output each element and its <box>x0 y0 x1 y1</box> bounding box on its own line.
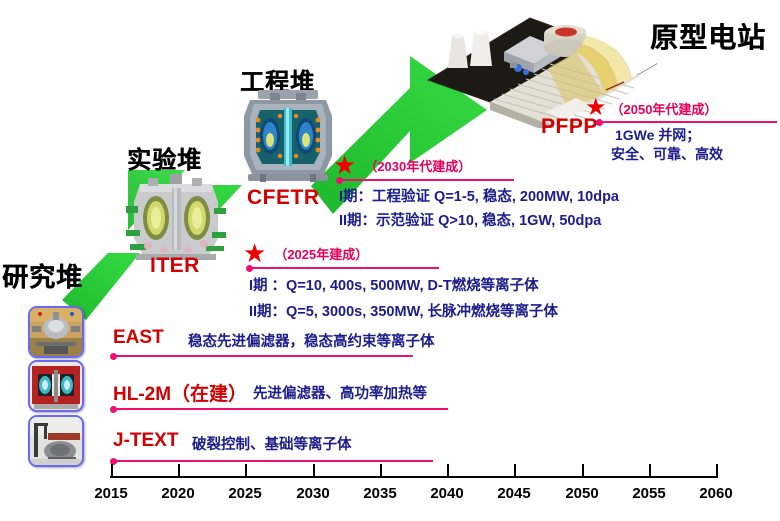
axis-tick-2045 <box>514 464 516 477</box>
axis-tick-label-2055: 2055 <box>619 485 679 502</box>
axis-tick-label-2025: 2025 <box>215 485 275 502</box>
axis-tick-label-2030: 2030 <box>283 485 343 502</box>
axis-tick-label-2035: 2035 <box>350 485 410 502</box>
axis-tick-label-2040: 2040 <box>417 485 477 502</box>
axis-tick-2015 <box>111 464 113 477</box>
axis-baseline <box>110 476 718 478</box>
axis-tick-2025 <box>245 464 247 477</box>
axis-tick-2020 <box>178 464 180 477</box>
axis-tick-label-2020: 2020 <box>148 485 208 502</box>
axis-tick-2060 <box>716 464 718 477</box>
roadmap-slide: 原型电站 研究堆 实验堆 工程堆 <box>0 0 780 521</box>
axis-tick-2040 <box>447 464 449 477</box>
axis-tick-label-2015: 2015 <box>81 485 141 502</box>
axis-tick-2055 <box>649 464 651 477</box>
axis-tick-2050 <box>582 464 584 477</box>
axis-tick-2030 <box>313 464 315 477</box>
axis-tick-label-2045: 2045 <box>484 485 544 502</box>
axis-tick-label-2050: 2050 <box>552 485 612 502</box>
axis-tick-2035 <box>380 464 382 477</box>
timeline-axis: 2015202020252030203520402045205020552060 <box>0 0 780 521</box>
axis-tick-label-2060: 2060 <box>686 485 746 502</box>
